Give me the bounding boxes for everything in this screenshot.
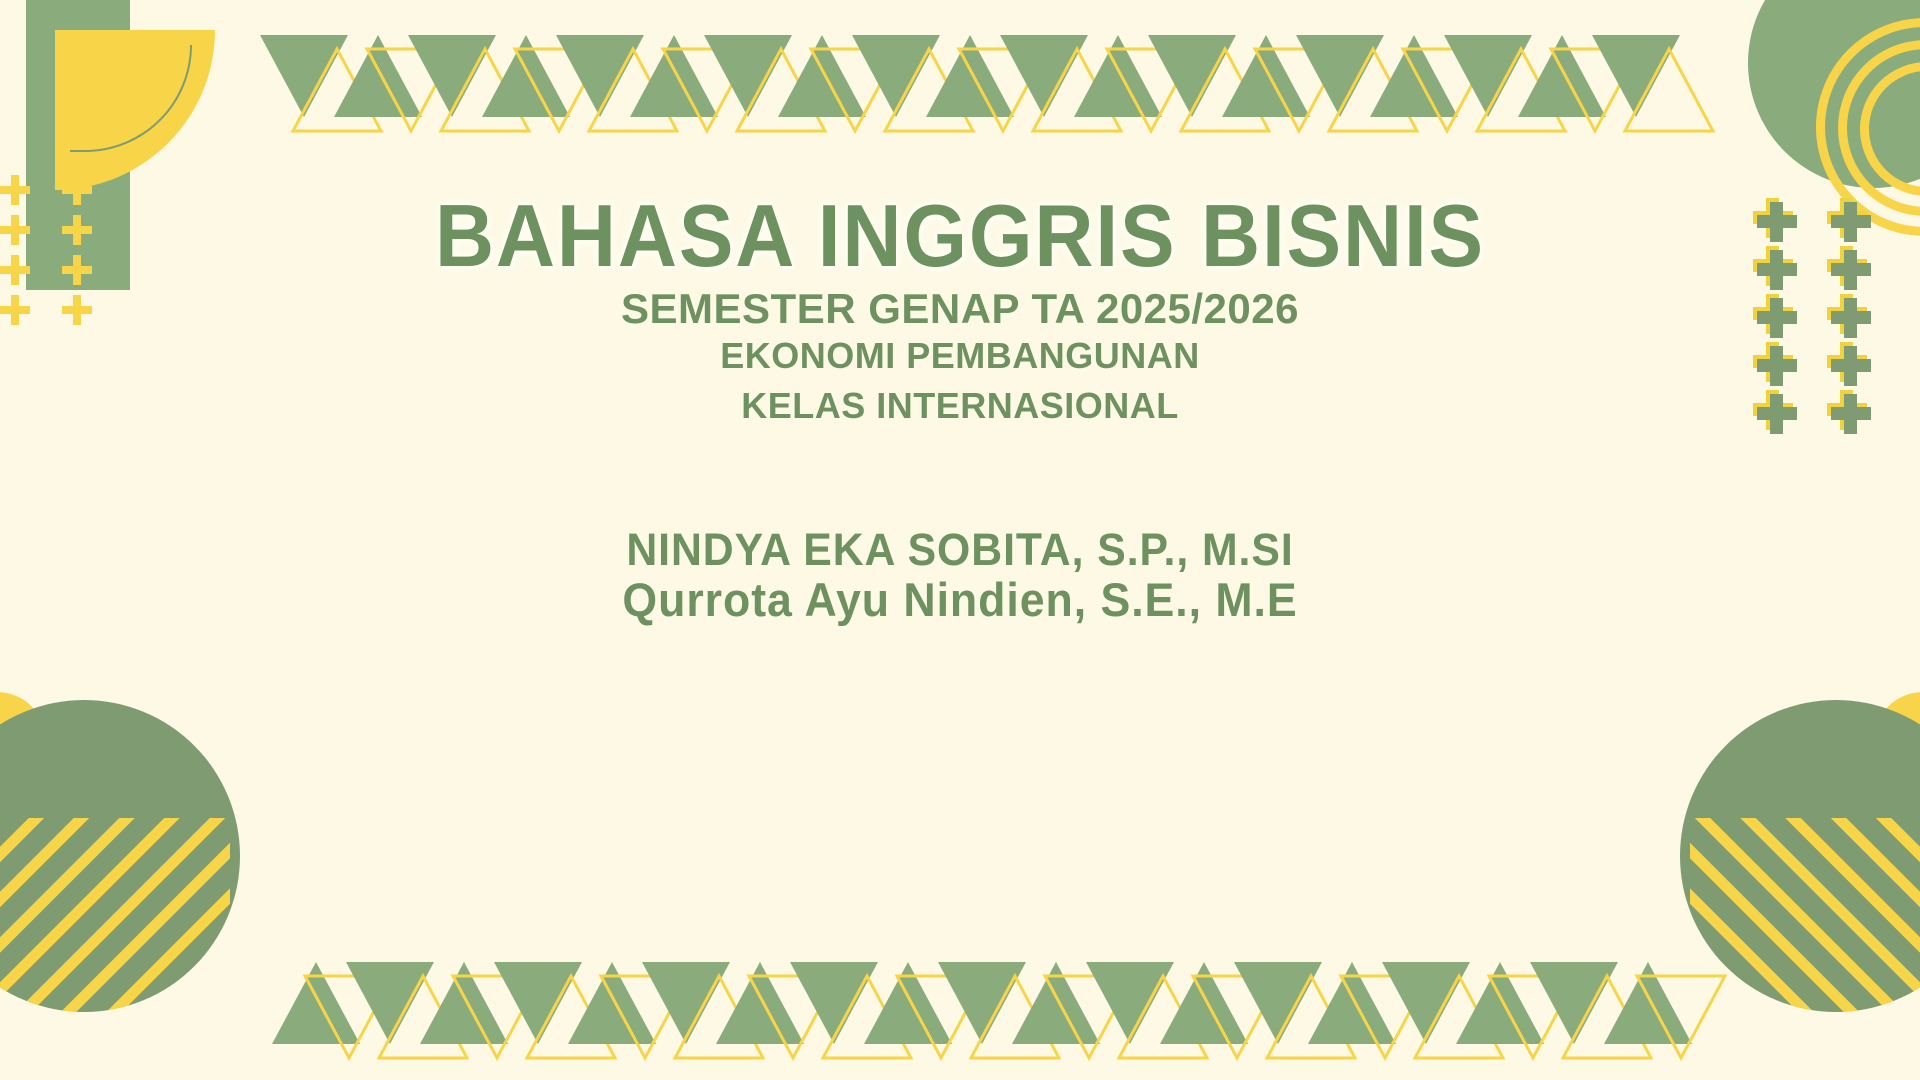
triangle-outline-up-icon [1623,47,1715,133]
bottom-right-green-blob [1680,700,1920,1012]
triangle-band-bottom [272,962,1672,1048]
triangle-band-top [260,35,1660,121]
presentation-slide: BAHASA INGGRIS BISNIS SEMESTER GENAP TA … [0,0,1920,1080]
presenter-name-2: Qurrota Ayu Nindien, S.E., M.E [48,576,1872,623]
slide-title: BAHASA INGGRIS BISNIS [67,192,1853,280]
bottom-left-green-blob [0,700,240,1012]
plus-icon [0,175,30,205]
presenter-name-1: NINDYA EKA SOBITA, S.P., M.SI [48,527,1872,572]
plus-icon [0,215,30,245]
slide-subtitle-semester: SEMESTER GENAP TA 2025/2026 [0,288,1920,330]
slide-subtitle-class: KELAS INTERNASIONAL [0,388,1920,424]
slide-subtitle-program: EKONOMI PEMBANGUNAN [0,338,1920,374]
plus-icon [0,255,30,285]
